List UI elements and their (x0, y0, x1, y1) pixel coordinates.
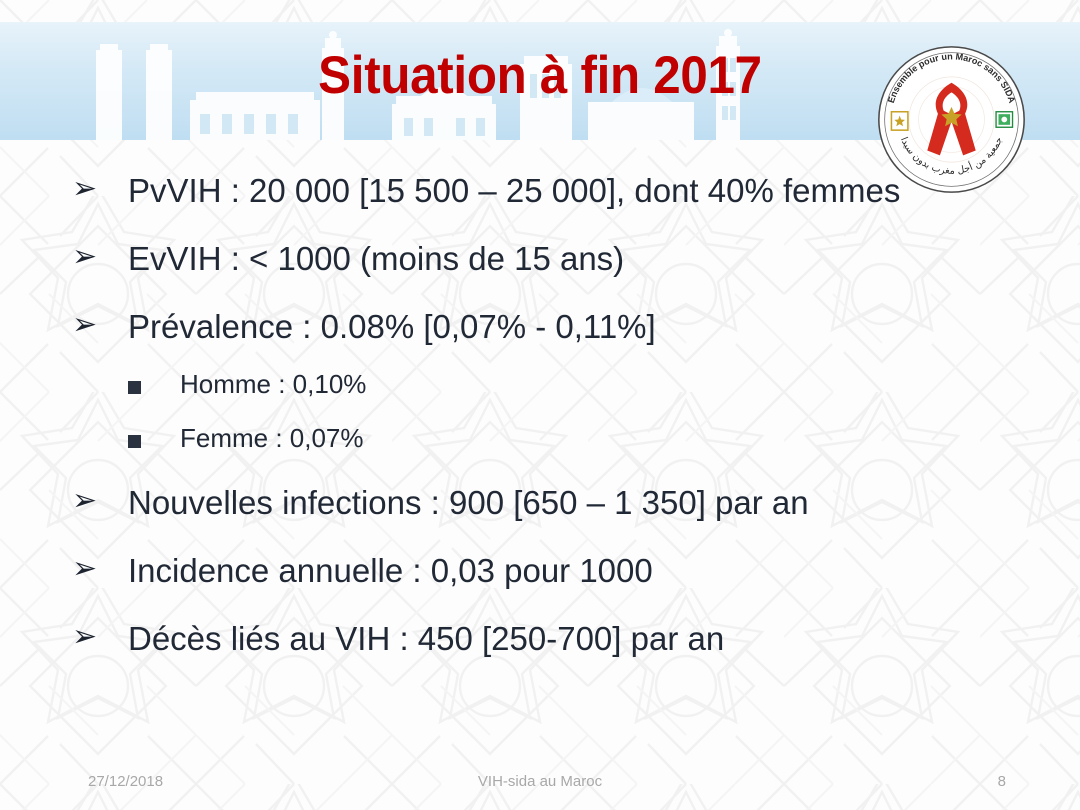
arrow-bullet-icon: ➢ (72, 310, 106, 340)
list-item-text: Prévalence : 0.08% [0,07% - 0,11%] (128, 308, 656, 347)
sub-list-item: Femme : 0,07% (0, 418, 1080, 472)
footer-page-number: 8 (998, 773, 1006, 790)
sub-list-item-text: Homme : 0,10% (180, 369, 366, 400)
list-item-text: EvVIH : < 1000 (moins de 15 ans) (128, 240, 624, 279)
sub-list-item: Homme : 0,10% (0, 364, 1080, 418)
list-item: ➢ Nouvelles infections : 900 [650 – 1 35… (0, 472, 1080, 540)
footer-title: VIH-sida au Maroc (0, 773, 1080, 790)
arrow-bullet-icon: ➢ (72, 486, 106, 516)
square-bullet-icon (128, 381, 141, 394)
list-item: ➢ Prévalence : 0.08% [0,07% - 0,11%] (0, 296, 1080, 364)
slide-footer: 27/12/2018 VIH-sida au Maroc 8 (0, 770, 1080, 796)
arrow-bullet-icon: ➢ (72, 554, 106, 584)
list-item: ➢ EvVIH : < 1000 (moins de 15 ans) (0, 228, 1080, 296)
list-item-text: Nouvelles infections : 900 [650 – 1 350]… (128, 484, 809, 523)
list-item: ➢ Incidence annuelle : 0,03 pour 1000 (0, 540, 1080, 608)
arrow-bullet-icon: ➢ (72, 174, 106, 204)
list-item-text: Décès liés au VIH : 450 [250-700] par an (128, 620, 724, 659)
bullet-list: ➢ PvVIH : 20 000 [15 500 – 25 000], dont… (0, 160, 1080, 676)
arrow-bullet-icon: ➢ (72, 622, 106, 652)
association-logo: Ensemble pour un Maroc sans SIDA جمعية م… (874, 42, 1029, 197)
slide: Situation à fin 2017 Ensem (0, 0, 1080, 810)
list-item-text: PvVIH : 20 000 [15 500 – 25 000], dont 4… (128, 172, 900, 211)
list-item: ➢ Décès liés au VIH : 450 [250-700] par … (0, 608, 1080, 676)
arrow-bullet-icon: ➢ (72, 242, 106, 272)
sub-list-item-text: Femme : 0,07% (180, 423, 364, 454)
square-bullet-icon (128, 435, 141, 448)
list-item-text: Incidence annuelle : 0,03 pour 1000 (128, 552, 653, 591)
